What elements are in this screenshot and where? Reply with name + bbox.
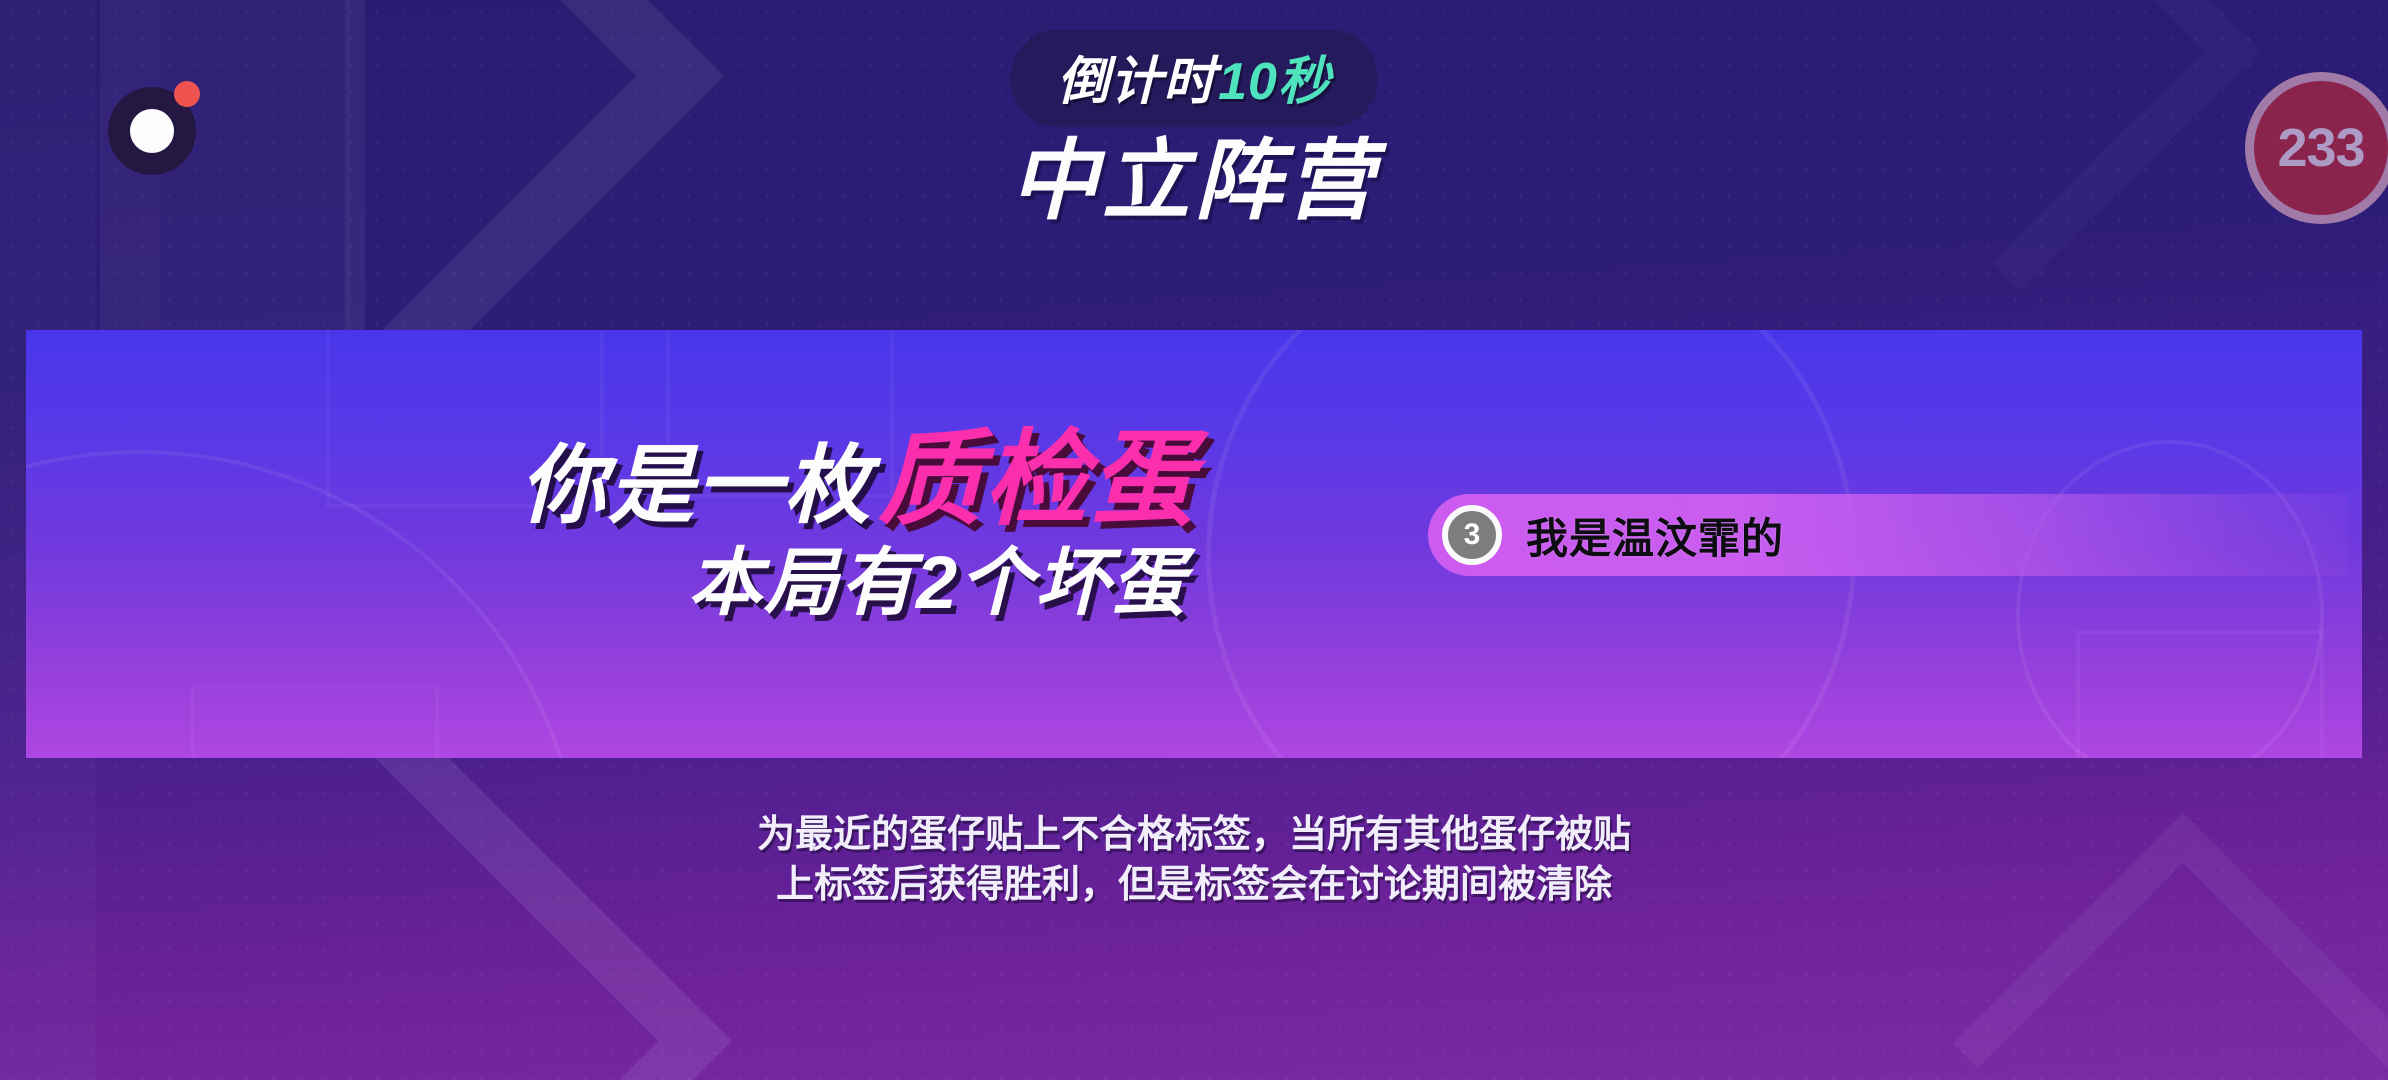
notification-dot-icon [174,81,200,107]
countdown-label: 倒计时 [1057,39,1216,114]
role-description: 为最近的蛋仔贴上不合格标签，当所有其他蛋仔被贴 上标签后获得胜利，但是标签会在讨… [757,810,1631,910]
player-number-avatar: 3 [1442,505,1502,565]
role-prefix-text: 你是一枚 [520,438,872,534]
record-button-core [130,109,174,153]
countdown-timer: 10秒 [1218,39,1331,114]
player-name-pill[interactable]: 3 我是温汶霏的 [1428,494,2348,576]
banner-rect-decoration-4 [2076,630,2324,758]
role-description-line-1: 为最近的蛋仔贴上不合格标签，当所有其他蛋仔被贴 [757,810,1631,860]
player-name-label: 我是温汶霏的 [1526,505,1784,566]
record-button[interactable] [108,87,196,175]
banner-rect-decoration-3 [191,685,439,758]
role-name-text: 质检蛋 [878,422,1196,538]
watermark-233-logo: 233 [2245,72,2388,224]
game-role-reveal-screen: 233 倒计时 10秒 中立阵营 你是一枚质检蛋 本局有2个坏蛋 3 我是温汶霏… [0,0,2388,1080]
role-description-line-2: 上标签后获得胜利，但是标签会在讨论期间被清除 [757,860,1631,910]
bad-egg-count-text: 本局有2个坏蛋 [688,523,1187,630]
camp-title: 中立阵营 [1010,110,1378,237]
